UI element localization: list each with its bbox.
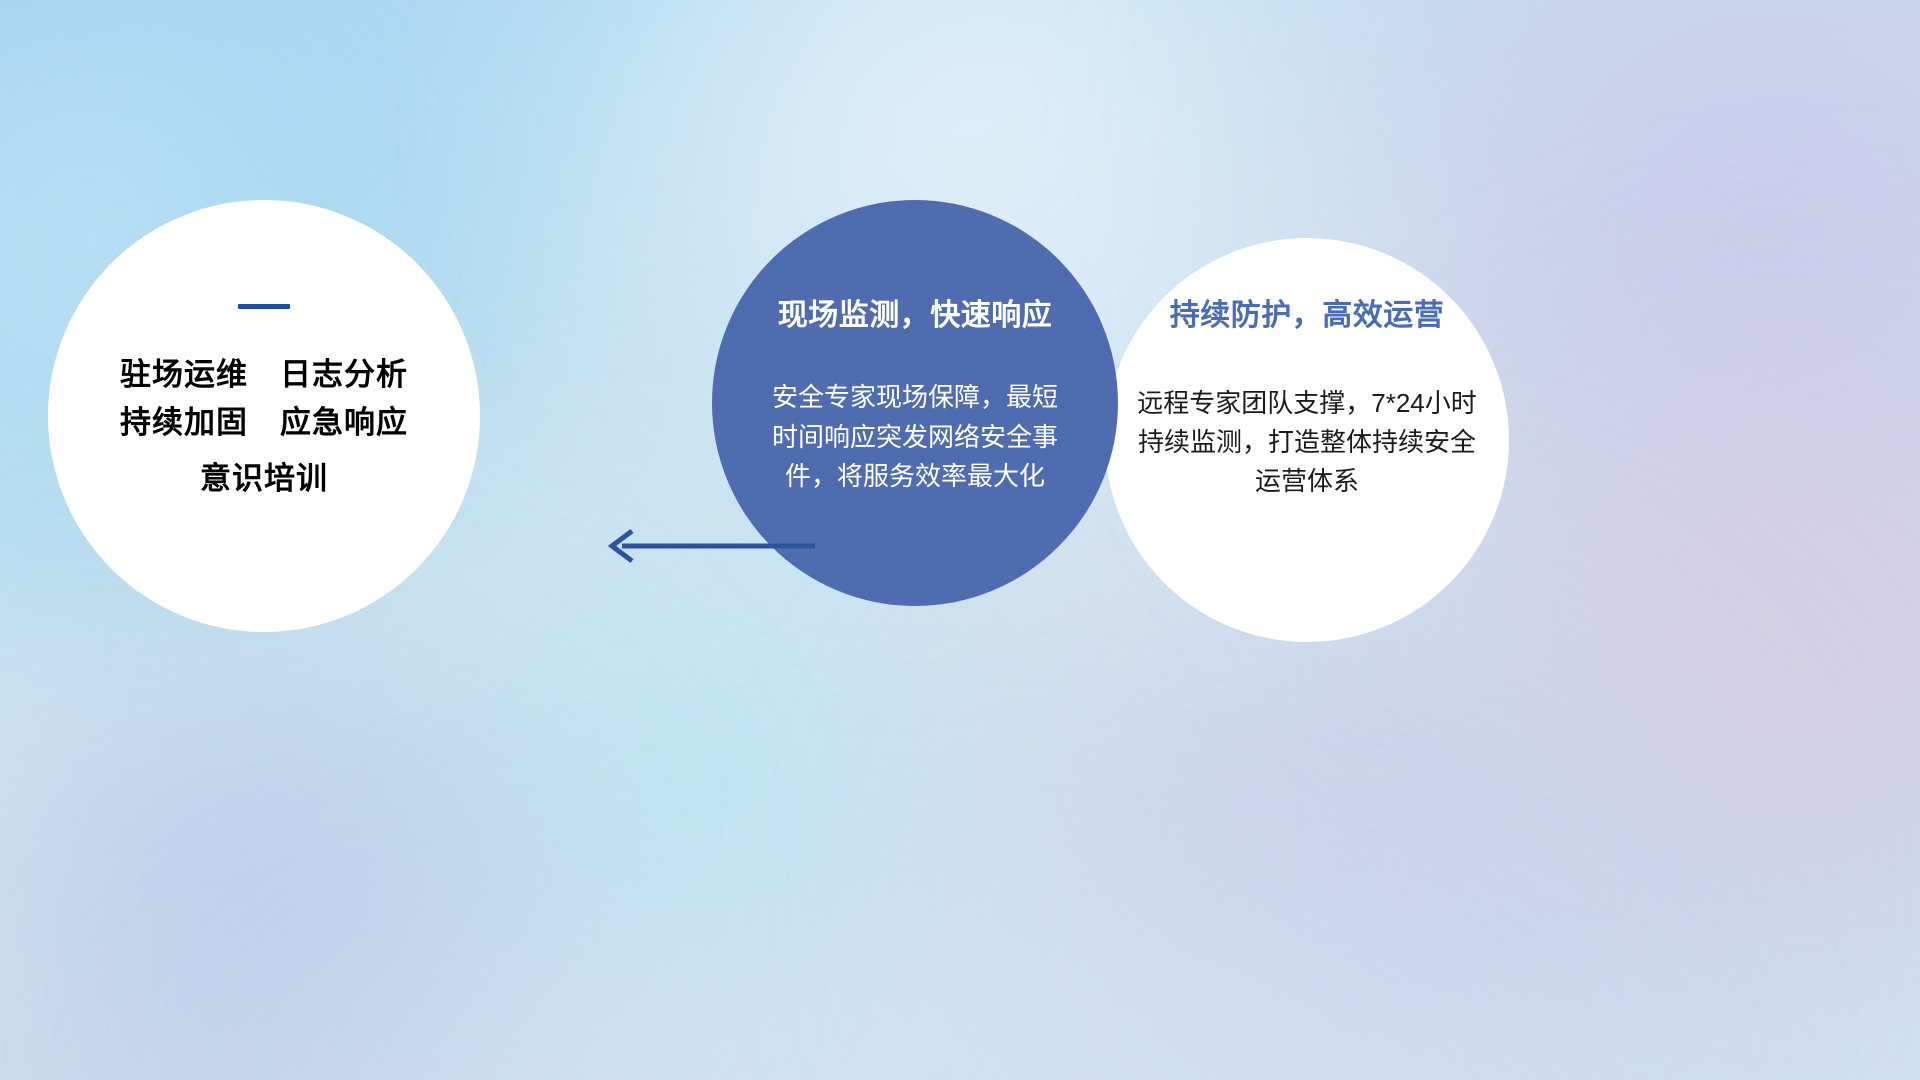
middle-circle-heading: 现场监测，快速响应: [778, 290, 1053, 334]
left-circle-line-1: 驻场运维 日志分析: [120, 351, 408, 399]
right-circle-content: 持续防护，高效运营 远程专家团队支撑，7*24小时持续监测，打造整体持续安全运营…: [1105, 238, 1509, 642]
middle-circle-content: 现场监测，快速响应 安全专家现场保障，最短时间响应突发网络安全事件，将服务效率最…: [712, 200, 1118, 606]
left-circle-line-2: 持续加固 应急响应: [120, 399, 408, 447]
left-circle-line-3: 意识培训: [200, 455, 328, 503]
left-circle-content: 驻场运维 日志分析 持续加固 应急响应 意识培训: [48, 200, 480, 632]
left-circle-divider: [238, 304, 290, 309]
middle-circle-body: 安全专家现场保障，最短时间响应突发网络安全事件，将服务效率最大化: [765, 378, 1065, 497]
right-circle-body: 远程专家团队支撑，7*24小时持续监测，打造整体持续安全运营体系: [1131, 384, 1483, 501]
right-circle-heading: 持续防护，高效运营: [1170, 290, 1445, 334]
